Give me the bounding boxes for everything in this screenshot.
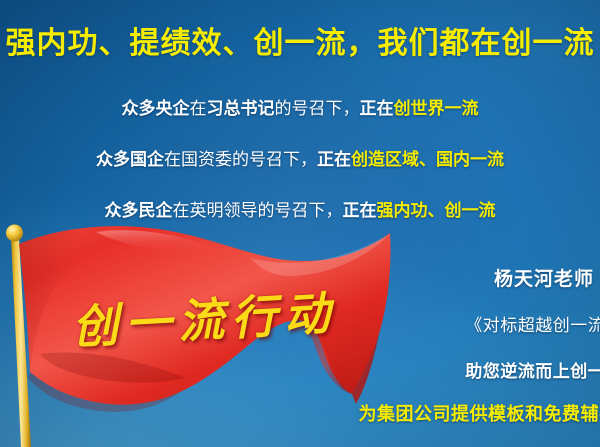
claim2-segment-subject: 众多国企 [96, 150, 164, 169]
claim1-segment-subject: 众多央企 [122, 99, 190, 118]
presenter-name: 杨天河老师 [0, 264, 600, 291]
flagpole-finial-ball [6, 225, 23, 242]
claim1-segment-progress: 正在 [360, 99, 394, 118]
claim2-segment-authority: 国资委 [181, 150, 232, 169]
claim2-segment-progress: 正在 [317, 150, 351, 169]
claim1-segment-connector: 在 [190, 99, 207, 118]
claim3-segment-call: 的号召下， [258, 201, 343, 220]
page-title: 强内功、提绩效、创一流，我们都在创一流 [0, 26, 600, 62]
claim3-segment-authority: 英明领导 [190, 201, 258, 220]
claim2-segment-connector: 在 [164, 150, 181, 169]
claim1-segment-goal: 创世界一流 [394, 99, 479, 118]
poster-canvas: 强内功、提绩效、创一流，我们都在创一流 众多央企在习总书记的号召下，正在创世界一… [0, 0, 600, 447]
claim3-segment-goal: 强内功、创一流 [377, 201, 496, 220]
claim1-segment-call: 的号召下， [275, 99, 360, 118]
claim3-segment-subject: 众多民企 [105, 201, 173, 220]
claim-private-enterprises: 众多民企在英明领导的号召下，正在强内功、创一流 [0, 200, 600, 222]
claim-central-enterprises: 众多央企在习总书记的号召下，正在创世界一流 [0, 98, 600, 120]
value-slogan: 助您逆流而上创一流 [0, 357, 600, 382]
claim1-segment-authority: 习总书记 [207, 99, 275, 118]
claim-state-owned-enterprises: 众多国企在国资委的号召下，正在创造区域、国内一流 [0, 149, 600, 171]
book-title: 《对标超越创一流》 [0, 311, 600, 336]
claim3-segment-connector: 在 [173, 201, 190, 220]
claim3-segment-progress: 正在 [343, 201, 377, 220]
offer-text: 为集团公司提供模板和免费辅导 [0, 400, 600, 426]
claim2-segment-goal: 创造区域、国内一流 [351, 150, 504, 169]
claim2-segment-call: 的号召下， [232, 150, 317, 169]
